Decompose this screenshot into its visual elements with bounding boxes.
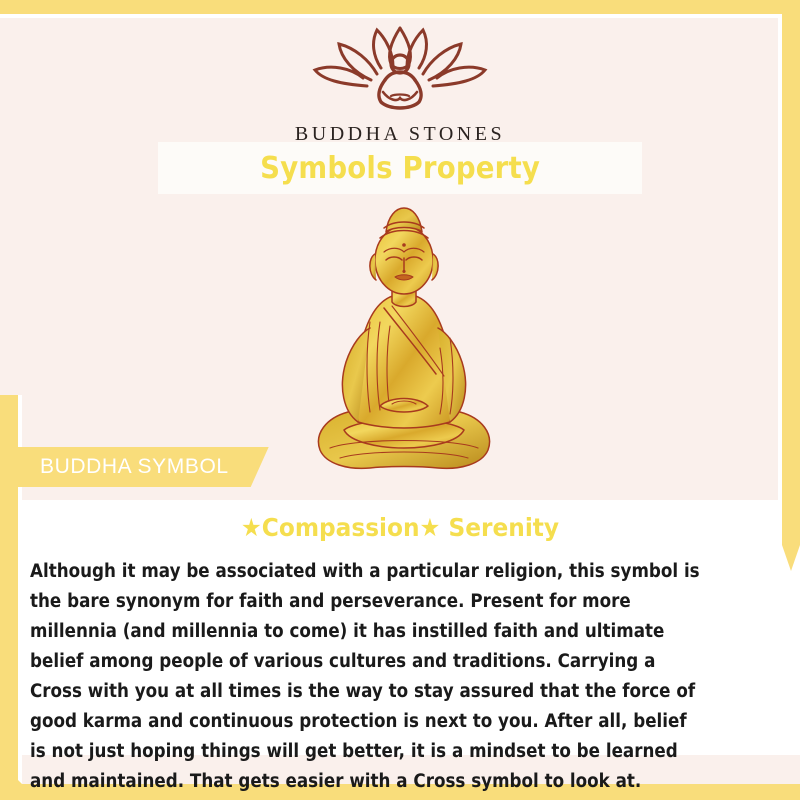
attributes-line: ★Compassion★ Serenity [28,513,772,542]
poster-canvas: BUDDHA STONES Symbols Property [0,0,800,800]
page-title: Symbols Property [260,151,540,186]
section-banner-label: BUDDHA SYMBOL [40,455,229,479]
star-icon-first: ★ [241,513,262,542]
frame-bottom-left-corner-triangle [0,762,22,784]
seated-buddha-statue-icon [300,198,508,488]
brand-logo: BUDDHA STONES [0,24,800,146]
lotus-meditation-icon [0,24,800,119]
description-paragraph: Although it may be associated with a par… [30,557,700,797]
section-banner: BUDDHA SYMBOL [16,447,269,487]
frame-right-arrow-tip [782,545,800,571]
frame-top-inner-gap [0,14,800,18]
star-icon-second: ★ [420,513,441,542]
frame-left-bar [0,395,18,800]
attribute-compassion: Compassion [262,513,420,542]
title-band: Symbols Property [158,142,642,194]
frame-top-bar [0,0,800,14]
attribute-serenity: Serenity [449,513,560,542]
